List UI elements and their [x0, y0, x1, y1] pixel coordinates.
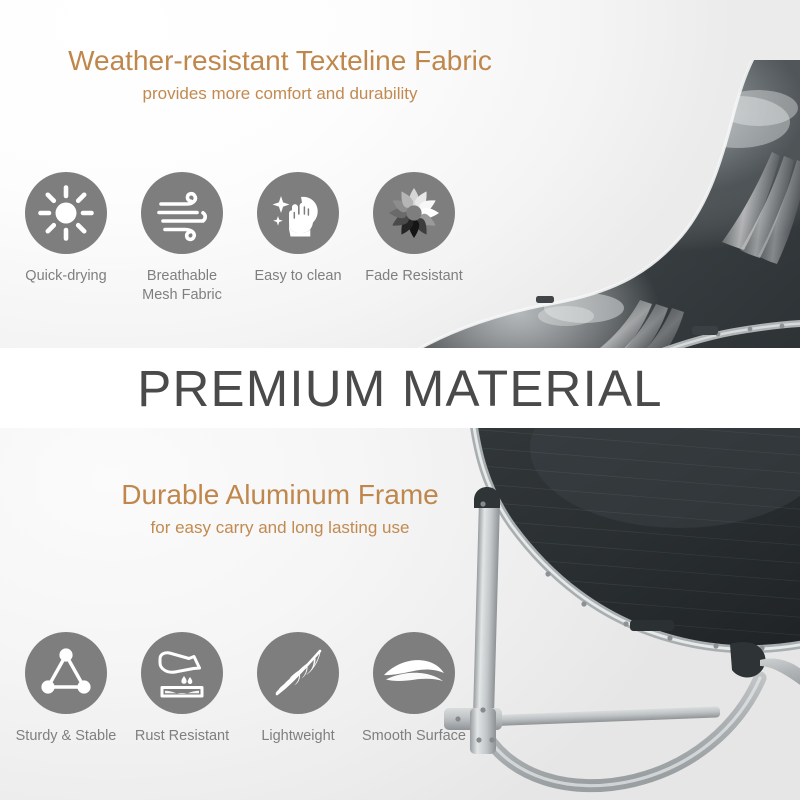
- feature-label: Fade Resistant: [365, 267, 463, 286]
- feature-label: Easy to clean: [254, 267, 341, 286]
- feature-label: Lightweight: [261, 727, 334, 746]
- dropper-surface-icon: [141, 632, 223, 714]
- feature-label: Rust Resistant: [135, 727, 229, 746]
- top-section-subtitle: provides more comfort and durability: [0, 84, 560, 104]
- bottom-section-title: Durable Aluminum Frame: [0, 478, 560, 512]
- banner-title: PREMIUM MATERIAL: [137, 363, 662, 414]
- leaf-wave-icon: [373, 632, 455, 714]
- feature-quick-drying: Quick-drying: [8, 172, 124, 305]
- top-feature-row: Quick-drying Breathable Mesh Fabric: [8, 172, 508, 305]
- cleaning-hand-icon: [257, 172, 339, 254]
- sun-icon: [25, 172, 107, 254]
- top-section-title: Weather-resistant Texteline Fabric: [0, 44, 560, 78]
- feature-fade-resistant: Fade Resistant: [356, 172, 472, 305]
- bottom-heading-block: Durable Aluminum Frame for easy carry an…: [0, 478, 560, 538]
- feature-label: Sturdy & Stable: [16, 727, 117, 746]
- feature-label: Smooth Surface: [362, 727, 466, 746]
- feature-rust-resistant: Rust Resistant: [124, 632, 240, 746]
- feature-label: Breathable Mesh Fabric: [142, 267, 222, 305]
- feature-easy-to-clean: Easy to clean: [240, 172, 356, 305]
- feature-label: Quick-drying: [25, 267, 106, 286]
- color-wheel-icon: [373, 172, 455, 254]
- feature-sturdy-stable: Sturdy & Stable: [8, 632, 124, 746]
- feature-breathable-mesh-fabric: Breathable Mesh Fabric: [124, 172, 240, 305]
- premium-material-banner: PREMIUM MATERIAL: [0, 348, 800, 428]
- top-heading-block: Weather-resistant Texteline Fabric provi…: [0, 44, 560, 104]
- feather-icon: [257, 632, 339, 714]
- infographic-page: Weather-resistant Texteline Fabric provi…: [0, 0, 800, 800]
- bottom-section-subtitle: for easy carry and long lasting use: [0, 518, 560, 538]
- wind-icon: [141, 172, 223, 254]
- triangle-nodes-icon: [25, 632, 107, 714]
- bottom-feature-row: Sturdy & Stable: [8, 632, 508, 746]
- feature-lightweight: Lightweight: [240, 632, 356, 746]
- feature-smooth-surface: Smooth Surface: [356, 632, 472, 746]
